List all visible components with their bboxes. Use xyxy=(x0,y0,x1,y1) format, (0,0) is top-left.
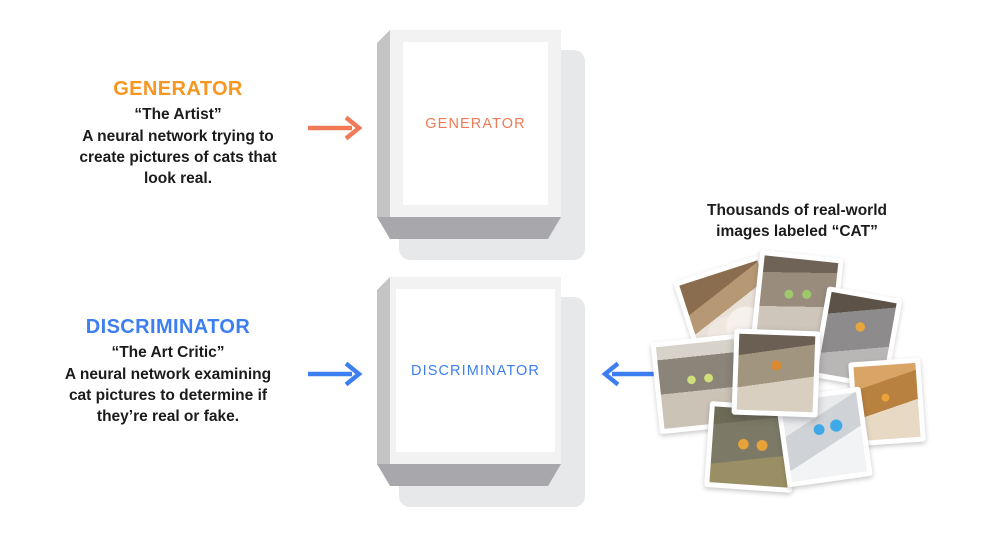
dataset-caption: Thousands of real-world images labeled “… xyxy=(672,200,922,243)
discriminator-box: DISCRIMINATOR xyxy=(377,277,585,507)
generator-box-bottom-panel xyxy=(377,217,561,239)
generator-heading: GENERATOR xyxy=(28,78,328,100)
discriminator-description-line-2: cat pictures to determine if xyxy=(18,386,318,407)
dataset-caption-line-1: Thousands of real-world xyxy=(672,200,922,221)
generator-nickname: “The Artist” xyxy=(28,105,328,126)
generator-box-label: GENERATOR xyxy=(425,116,525,132)
generator-arrow-right-icon xyxy=(306,114,368,142)
discriminator-box-face: DISCRIMINATOR xyxy=(396,289,555,452)
cat-photo-8-image xyxy=(737,334,816,413)
discriminator-box-bottom-panel xyxy=(377,464,561,486)
discriminator-nickname: “The Art Critic” xyxy=(18,343,318,364)
discriminator-description-block: DISCRIMINATOR “The Art Critic” A neural … xyxy=(18,316,318,428)
diagram-canvas: GENERATOR “The Artist” A neural network … xyxy=(0,0,982,549)
generator-description-line-2: create pictures of cats that xyxy=(28,148,328,169)
discriminator-box-frame: DISCRIMINATOR xyxy=(390,277,561,464)
cat-photo-8 xyxy=(732,329,821,418)
generator-box-frame: GENERATOR xyxy=(390,30,561,217)
discriminator-box-label: DISCRIMINATOR xyxy=(411,363,540,379)
generator-description-line-1: A neural network trying to xyxy=(28,127,328,148)
generator-description-line-3: look real. xyxy=(28,169,328,190)
cat-photo-collage xyxy=(655,252,905,502)
dataset-caption-line-2: images labeled “CAT” xyxy=(672,221,922,242)
generator-box: GENERATOR xyxy=(377,30,585,260)
generator-box-face: GENERATOR xyxy=(403,42,548,205)
discriminator-description-line-3: they’re real or fake. xyxy=(18,407,318,428)
discriminator-description-line-1: A neural network examining xyxy=(18,365,318,386)
dataset-arrow-left-icon xyxy=(600,360,658,388)
discriminator-heading: DISCRIMINATOR xyxy=(18,316,318,338)
generator-description-block: GENERATOR “The Artist” A neural network … xyxy=(28,78,328,190)
discriminator-arrow-right-icon xyxy=(306,360,368,388)
